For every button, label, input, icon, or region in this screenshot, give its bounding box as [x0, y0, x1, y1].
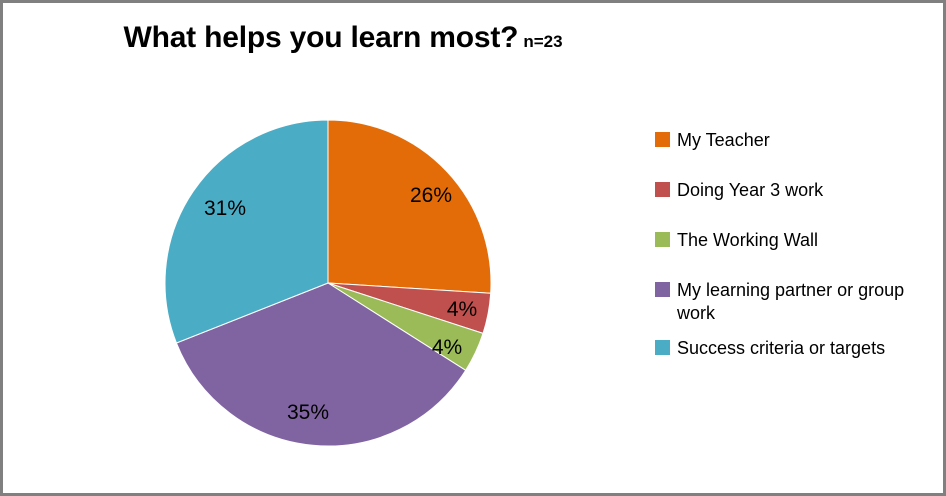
pie-chart-svg	[165, 120, 491, 446]
legend-item-label: Success criteria or targets	[677, 337, 885, 360]
legend-item[interactable]: The Working Wall	[655, 229, 935, 252]
legend-item[interactable]: My Teacher	[655, 129, 935, 152]
legend-color-swatch-icon	[655, 232, 670, 247]
legend-item-label: The Working Wall	[677, 229, 818, 252]
legend-item-label: My learning partner or group work	[677, 279, 935, 325]
chart-sample-size: n=23	[523, 32, 562, 51]
legend-item[interactable]: My learning partner or group work	[655, 279, 935, 325]
legend-item[interactable]: Doing Year 3 work	[655, 179, 935, 202]
legend-item[interactable]: Success criteria or targets	[655, 337, 935, 360]
legend-item-label: My Teacher	[677, 129, 770, 152]
pie-chart-plot-area: 26%4%4%35%31%	[165, 120, 491, 446]
legend-color-swatch-icon	[655, 340, 670, 355]
chart-legend: My TeacherDoing Year 3 workThe Working W…	[655, 129, 935, 387]
pie-slice[interactable]	[328, 120, 491, 293]
legend-color-swatch-icon	[655, 282, 670, 297]
pie-slice-group	[165, 120, 491, 446]
chart-title-main: What helps you learn most?	[123, 21, 518, 54]
chart-title: What helps you learn most?n=23	[3, 21, 683, 55]
chart-container: What helps you learn most?n=23 26%4%4%35…	[0, 0, 946, 496]
legend-color-swatch-icon	[655, 132, 670, 147]
legend-item-label: Doing Year 3 work	[677, 179, 823, 202]
legend-color-swatch-icon	[655, 182, 670, 197]
